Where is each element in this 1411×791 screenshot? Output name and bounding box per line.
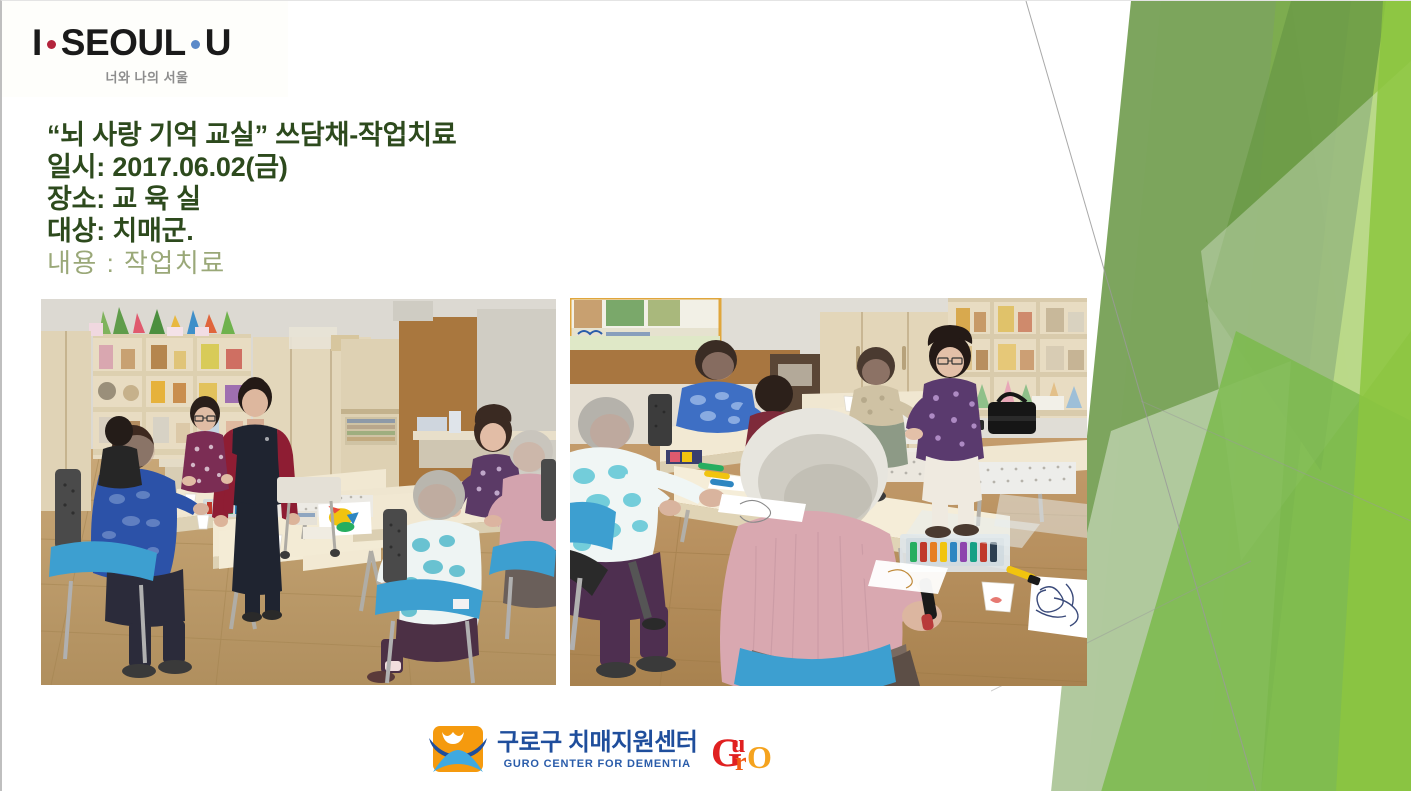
deco-shape-green-2 [1206,1,1411,791]
guro-center-mark-icon [427,724,489,776]
photo-occupational-therapy-right [570,298,1087,686]
guro-center-name-en: GURO CENTER FOR DEMENTIA [497,757,697,771]
logo-dot-blue-icon [191,40,200,49]
guro-wordmark-icon: G u r O [711,726,773,774]
deco-hairline-2 [1141,401,1411,521]
logo-letter-i: I [32,23,42,63]
paper-cup-right [982,582,1014,612]
logo-letter-u: U [205,23,231,63]
event-target-line: 대상: 치매군. [47,215,687,247]
seoul-logo-plate: I SEOUL U 너와 나의 서울 [2,1,288,97]
photo-left-illustration [41,299,556,685]
svg-text:O: O [747,739,772,774]
event-place-line: 장소: 교 육 실 [47,183,687,215]
slide-canvas: I SEOUL U 너와 나의 서울 “뇌 사랑 기억 교실” 쓰담채-작업치료… [0,0,1411,791]
event-title-line: “뇌 사랑 기억 교실” 쓰담채-작업치료 [47,119,687,151]
event-content-line: 내용 : 작업치료 [47,247,687,279]
i-seoul-u-logo: I SEOUL U 너와 나의 서울 [32,23,262,85]
deco-shape-green-4 [1101,331,1411,791]
guro-center-for-dementia-logo: 구로구 치매지원센터 GURO CENTER FOR DEMENTIA G u … [427,719,797,781]
deco-shape-green-3 [1261,1,1411,791]
guro-center-text: 구로구 치매지원센터 GURO CENTER FOR DEMENTIA [497,730,697,771]
event-date-line: 일시: 2017.06.02(금) [47,151,687,183]
deco-shape-green-dark [1206,1,1386,471]
event-info-block: “뇌 사랑 기억 교실” 쓰담채-작업치료 일시: 2017.06.02(금) … [47,119,687,279]
deco-shape-green-5 [1336,1,1411,791]
photo-right-illustration [570,298,1087,686]
i-seoul-u-wordmark: I SEOUL U [32,23,262,63]
deco-shape-pale-1 [1086,1,1411,791]
logo-dot-red-icon [47,40,56,49]
deco-shape-green-1 [1051,1,1411,791]
drawing-paper [1028,576,1087,638]
guro-center-name-kr: 구로구 치매지원센터 [497,730,697,756]
seoul-logo-subtitle: 너와 나의 서울 [32,67,262,86]
chair-rear-left [648,394,672,446]
photo-occupational-therapy-left [41,299,556,685]
logo-letter-seoul: SEOUL [61,23,186,63]
svg-text:r: r [735,747,747,774]
deco-shape-pale-2 [1201,61,1411,561]
